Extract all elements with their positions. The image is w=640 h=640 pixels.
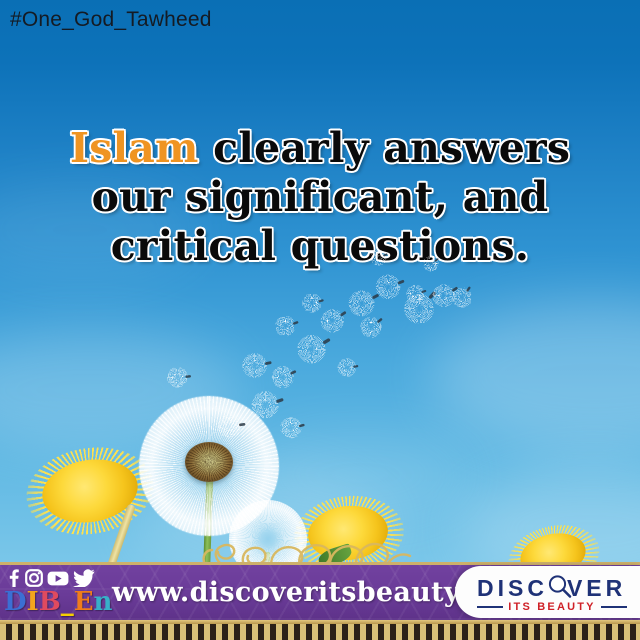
instagram-icon[interactable] <box>25 569 43 587</box>
flying-seeds-group <box>0 0 640 575</box>
magnifying-glass-icon <box>547 574 573 600</box>
twitter-icon[interactable] <box>73 569 95 587</box>
discover-word-head: DISC <box>477 575 548 601</box>
tagline-rule-right <box>601 606 627 608</box>
brand-letter-d: D <box>4 587 27 617</box>
youtube-icon[interactable] <box>47 570 69 587</box>
discover-tagline: ITS BEAUTY <box>508 601 595 613</box>
brand-letter-b: B <box>39 587 61 617</box>
brand-letter-i: I <box>27 587 39 617</box>
brand-letter-n: n <box>94 587 113 617</box>
footer-dashed-strip <box>0 624 640 640</box>
discover-logo[interactable]: DISCVER ITS BEAUTY <box>455 566 640 618</box>
social-media-poster: #One_God_Tawheed Islam clearly answers o… <box>0 0 640 640</box>
brand-handle[interactable]: DIB_En <box>4 587 112 617</box>
tagline-rule-left <box>477 606 503 608</box>
social-icons-group[interactable] <box>6 569 95 587</box>
facebook-icon[interactable] <box>6 569 21 587</box>
discover-word-tail: VER <box>567 575 626 601</box>
brand-letter-underscore: _ <box>61 587 74 617</box>
brand-letter-e: E <box>74 587 94 617</box>
discover-tagline-row: ITS BEAUTY <box>477 601 627 613</box>
